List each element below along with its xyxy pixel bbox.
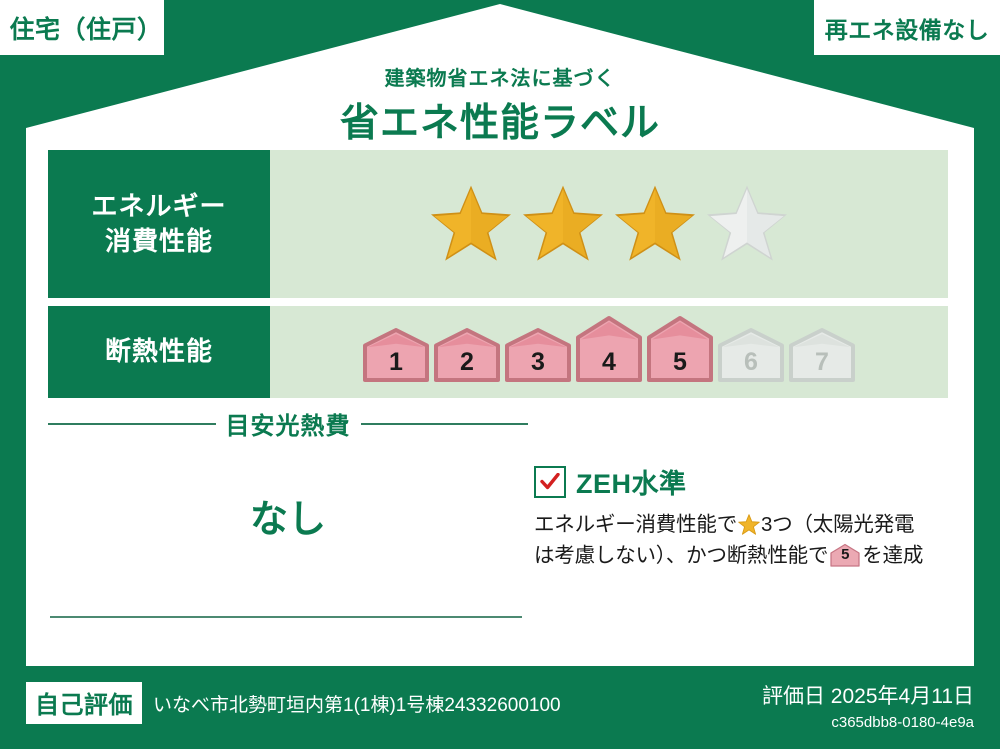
- star-filled-icon: [429, 184, 513, 264]
- grade-value: 7: [788, 348, 856, 377]
- zeh-desc-part3: を達成: [862, 544, 923, 567]
- rule-right: [361, 423, 529, 425]
- zeh-description: エネルギー消費性能で3つ（太陽光発電は考慮しない）、かつ断熱性能で5を達成: [534, 510, 946, 572]
- zeh-desc-star-count: 3つ（太陽光発電: [761, 513, 914, 536]
- star-empty-icon: [705, 184, 789, 264]
- utility-cost-value: なし: [48, 488, 528, 543]
- inline-star-icon: [738, 514, 760, 535]
- check-icon: [540, 473, 560, 491]
- footer-right: 評価日 2025年4月11日 c365dbb8-0180-4e9a: [762, 680, 974, 731]
- utility-cost-bottom-rule: [50, 616, 522, 618]
- label-title: 省エネ性能ラベル: [0, 92, 1000, 148]
- energy-performance-value: [270, 150, 948, 298]
- building-type-tag: 住宅（住戸）: [0, 0, 164, 55]
- star-rating: [429, 184, 789, 264]
- zeh-checkbox[interactable]: [534, 466, 566, 498]
- grade-badge-2: 2: [433, 327, 501, 383]
- inline-grade-badge: 5: [830, 543, 860, 567]
- energy-performance-row: エネルギー 消費性能: [48, 150, 948, 298]
- energy-key-line2: 消費性能: [105, 224, 213, 259]
- grade-badge-4: 4: [575, 315, 643, 383]
- energy-performance-label: 住宅（住戸） 再エネ設備なし 建築物省エネ法に基づく 省エネ性能ラベル エネルギ…: [0, 0, 1000, 749]
- grade-badge-7: 7: [788, 327, 856, 383]
- insulation-performance-row: 断熱性能 1234567: [48, 306, 948, 398]
- self-evaluation-badge: 自己評価: [26, 682, 142, 724]
- energy-performance-key: エネルギー 消費性能: [48, 150, 270, 298]
- zeh-title-row: ZEH水準: [534, 462, 946, 501]
- energy-key-line1: エネルギー: [91, 189, 226, 224]
- utility-cost-heading: 目安光熱費: [48, 406, 528, 441]
- grade-value: 6: [717, 348, 785, 377]
- zeh-block: ZEH水準 エネルギー消費性能で3つ（太陽光発電は考慮しない）、かつ断熱性能で5…: [534, 462, 946, 572]
- grade-scale: 1234567: [362, 315, 856, 389]
- grade-value: 1: [362, 348, 430, 377]
- footer-left: 自己評価 いなべ市北勢町垣内第1(1棟)1号棟24332600100: [26, 682, 561, 724]
- star-filled-icon: [521, 184, 605, 264]
- star-filled-icon: [613, 184, 697, 264]
- insulation-performance-value: 1234567: [270, 306, 948, 398]
- evaluation-date: 評価日 2025年4月11日: [762, 680, 974, 710]
- renewable-equipment-tag: 再エネ設備なし: [814, 0, 1000, 55]
- grade-badge-3: 3: [504, 327, 572, 383]
- grade-value: 3: [504, 348, 572, 377]
- property-address: いなべ市北勢町垣内第1(1棟)1号棟24332600100: [153, 690, 561, 717]
- zeh-desc-part2: は考慮しない）、かつ断熱性能で: [534, 544, 828, 567]
- zeh-title: ZEH水準: [576, 462, 687, 501]
- grade-badge-5: 5: [646, 315, 714, 383]
- label-subtitle: 建築物省エネ法に基づく: [0, 62, 1000, 91]
- document-id: c365dbb8-0180-4e9a: [762, 714, 974, 731]
- zeh-desc-part1: エネルギー消費性能で: [534, 513, 737, 536]
- insulation-key-label: 断熱性能: [105, 334, 213, 369]
- grade-badge-1: 1: [362, 327, 430, 383]
- rule-left: [48, 423, 216, 425]
- grade-value: 4: [575, 348, 643, 377]
- utility-cost-title: 目安光熱費: [226, 406, 351, 441]
- footer-bar: 自己評価 いなべ市北勢町垣内第1(1棟)1号棟24332600100 評価日 2…: [0, 666, 1000, 749]
- grade-value: 2: [433, 348, 501, 377]
- grade-value: 5: [646, 348, 714, 377]
- insulation-performance-key: 断熱性能: [48, 306, 270, 398]
- grade-badge-6: 6: [717, 327, 785, 383]
- inline-grade-value: 5: [830, 544, 860, 567]
